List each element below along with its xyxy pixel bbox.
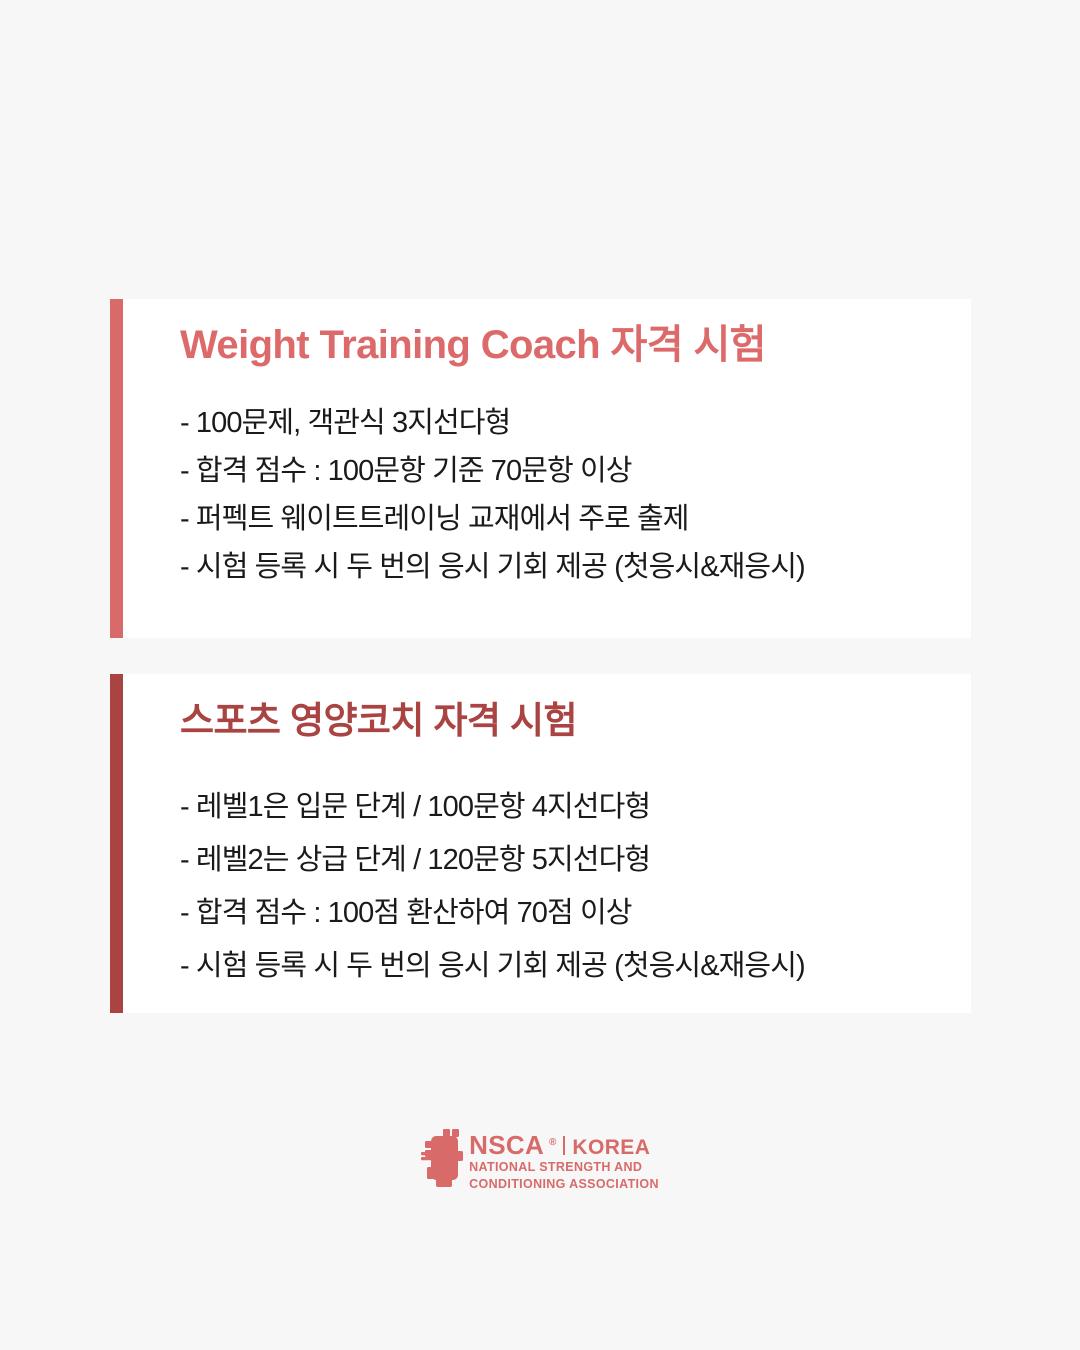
nsca-emblem-icon bbox=[421, 1127, 465, 1189]
logo-region-text: KOREA bbox=[572, 1137, 650, 1158]
logo-wordmark: NSCA ® KOREA NATIONAL STRENGTH AND CONDI… bbox=[469, 1124, 659, 1192]
list-item: - 레벨2는 상급 단계 / 120문항 5지선다형 bbox=[180, 834, 941, 887]
logo-lockup: NSCA ® KOREA NATIONAL STRENGTH AND CONDI… bbox=[421, 1124, 659, 1192]
bullet-list-sports-nutrition-coach: - 레벨1은 입문 단계 / 100문항 4지선다형 - 레벨2는 상급 단계 … bbox=[180, 739, 941, 993]
list-item: - 합격 점수 : 100점 환산하여 70점 이상 bbox=[180, 887, 941, 940]
list-item: - 시험 등록 시 두 번의 응시 기회 제공 (첫응시&재응시) bbox=[180, 940, 941, 993]
poster-canvas: Weight Training Coach 자격 시험 - 100문제, 객관식… bbox=[0, 0, 1080, 1350]
list-item: - 100문제, 객관식 3지선다형 bbox=[180, 399, 941, 447]
card-content: Weight Training Coach 자격 시험 - 100문제, 객관식… bbox=[123, 299, 971, 638]
list-item: - 레벨1은 입문 단계 / 100문항 4지선다형 bbox=[180, 781, 941, 834]
card-accent-bar-brick bbox=[110, 674, 123, 1013]
bullet-list-weight-training-coach: - 100문제, 객관식 3지선다형 - 합격 점수 : 100문항 기준 70… bbox=[180, 365, 941, 591]
card-title-weight-training-coach: Weight Training Coach 자격 시험 bbox=[180, 299, 941, 365]
list-item: - 퍼펙트 웨이트트레이닝 교재에서 주로 출제 bbox=[180, 495, 941, 543]
logo-divider bbox=[563, 1136, 565, 1155]
exam-card-weight-training-coach: Weight Training Coach 자격 시험 - 100문제, 객관식… bbox=[110, 299, 971, 638]
list-item: - 시험 등록 시 두 번의 응시 기회 제공 (첫응시&재응시) bbox=[180, 543, 941, 591]
logo-subtitle-line-2: CONDITIONING ASSOCIATION bbox=[469, 1177, 659, 1192]
logo-primary-line: NSCA ® KOREA bbox=[469, 1132, 659, 1158]
list-item: - 합격 점수 : 100문항 기준 70문항 이상 bbox=[180, 447, 941, 495]
registered-trademark-icon: ® bbox=[549, 1138, 556, 1148]
footer-logo: NSCA ® KOREA NATIONAL STRENGTH AND CONDI… bbox=[0, 1124, 1080, 1192]
exam-card-sports-nutrition-coach: 스포츠 영양코치 자격 시험 - 레벨1은 입문 단계 / 100문항 4지선다… bbox=[110, 674, 971, 1013]
card-content: 스포츠 영양코치 자격 시험 - 레벨1은 입문 단계 / 100문항 4지선다… bbox=[123, 674, 971, 1013]
card-title-sports-nutrition-coach: 스포츠 영양코치 자격 시험 bbox=[180, 674, 941, 739]
logo-brand-text: NSCA bbox=[469, 1132, 544, 1158]
card-accent-bar-coral bbox=[110, 299, 123, 638]
logo-subtitle-line-1: NATIONAL STRENGTH AND bbox=[469, 1160, 659, 1175]
